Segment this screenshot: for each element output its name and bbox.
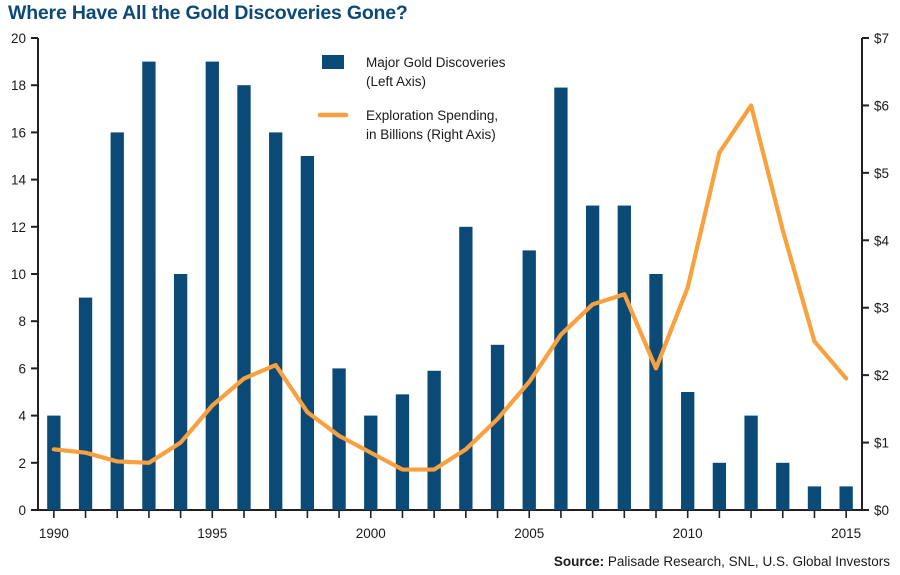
bar-2006 [554,88,567,510]
legend-label-major-gold-discoveries-line1: Major Gold Discoveries [366,55,506,70]
right-axis-tick-label: $1 [874,436,889,451]
right-axis-tick-label: $3 [874,301,889,316]
bar-2007 [586,206,599,510]
bar-1993 [142,62,155,510]
bar-2010 [681,392,694,510]
bar-1998 [301,156,314,510]
x-axis-year-label: 1995 [197,526,227,541]
left-axis-tick-label: 16 [11,125,26,140]
bar-1996 [237,85,250,510]
x-axis-year-label: 2000 [356,526,386,541]
left-axis-tick-label: 2 [18,456,26,471]
bar-2011 [713,463,726,510]
bar-1995 [206,62,219,510]
bar-2000 [364,416,377,510]
bar-2012 [744,416,757,510]
bar-2004 [491,345,504,510]
x-axis-year-label: 2010 [673,526,703,541]
left-axis-tick-label: 14 [11,173,27,188]
bar-1992 [111,132,124,510]
source-note: Source: Palisade Research, SNL, U.S. Glo… [554,554,890,569]
bar-2008 [618,206,631,510]
right-axis-tick-label: $6 [874,98,889,113]
left-axis-tick-label: 20 [11,31,26,46]
left-axis-tick-label: 10 [11,267,26,282]
chart-plot-area: 02468101214161820$0$1$2$3$4$5$6$71990199… [0,0,900,575]
x-axis-year-label: 1990 [39,526,69,541]
bar-2009 [649,274,662,510]
bar-1990 [47,416,60,510]
bar-1991 [79,298,92,510]
right-axis-tick-label: $7 [874,31,889,46]
left-axis-tick-label: 8 [18,314,26,329]
right-axis-tick-label: $4 [874,233,890,248]
legend-label-exploration-spending-line1: Exploration Spending, [366,108,498,123]
bar-2001 [396,394,409,510]
left-axis-tick-label: 0 [18,503,26,518]
bar-1997 [269,132,282,510]
left-axis-tick-label: 18 [11,78,26,93]
legend-label-exploration-spending-line2: in Billions (Right Axis) [366,127,496,142]
bar-2002 [428,371,441,510]
chart-container: Where Have All the Gold Discoveries Gone… [0,0,900,575]
right-axis-tick-label: $5 [874,166,889,181]
legend-swatch-major-gold-discoveries [322,55,344,69]
left-axis-tick-label: 12 [11,220,26,235]
bar-1994 [174,274,187,510]
source-label: Source: [554,554,604,569]
x-axis-year-label: 2015 [831,526,861,541]
left-axis-tick-label: 4 [18,409,26,424]
left-axis-tick-label: 6 [18,361,26,376]
exploration-spending-line [54,105,846,469]
legend-label-major-gold-discoveries-line2: (Left Axis) [366,74,426,89]
right-axis-tick-label: $2 [874,368,889,383]
bar-2015 [840,486,853,510]
bar-2003 [459,227,472,510]
right-axis-tick-label: $0 [874,503,889,518]
x-axis-year-label: 2005 [514,526,544,541]
source-text: Palisade Research, SNL, U.S. Global Inve… [604,554,890,569]
bar-2014 [808,486,821,510]
bar-2013 [776,463,789,510]
